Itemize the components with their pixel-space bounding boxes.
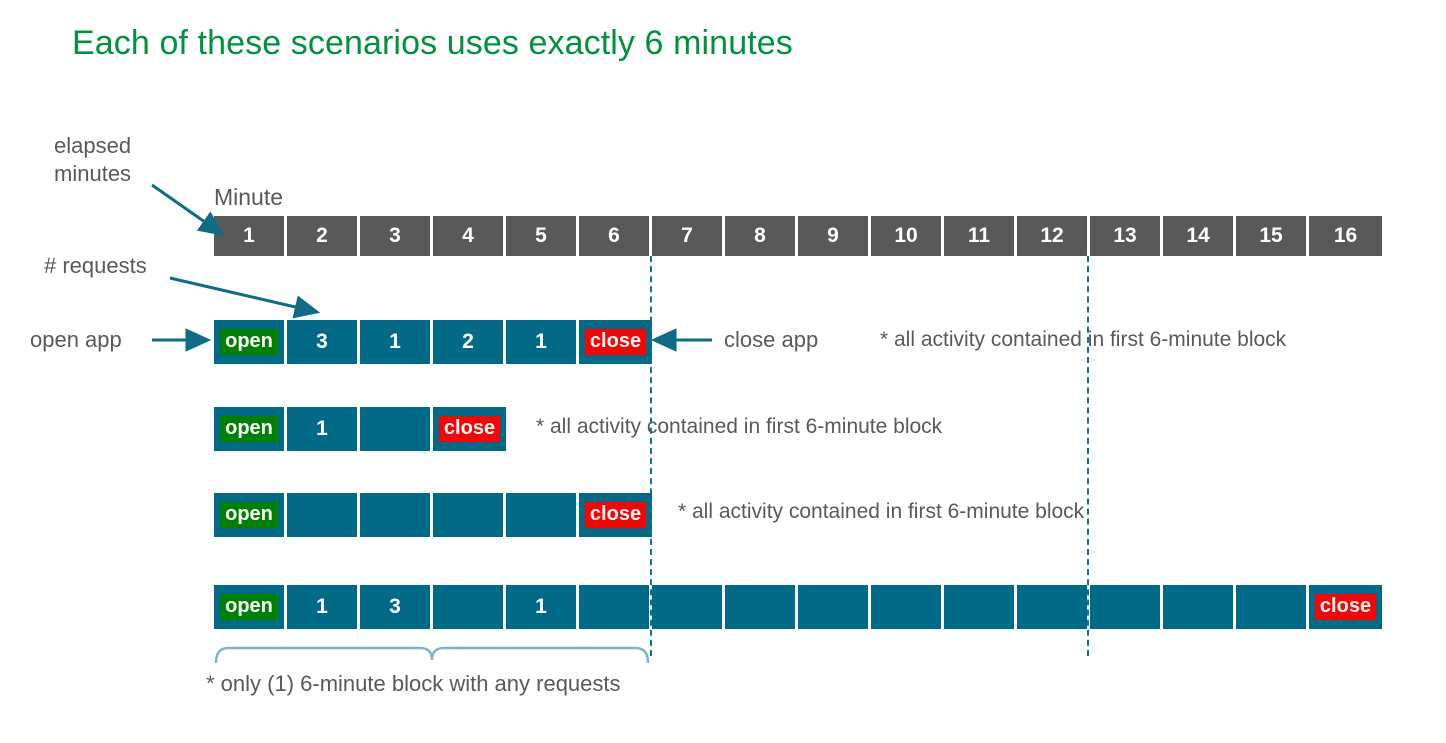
minute-header-row: 12345678910111213141516 — [214, 216, 1382, 256]
scenario-4-minute-15-cell — [1236, 585, 1309, 629]
scenario-row-2: open1close — [214, 407, 506, 451]
minute-caption: Minute — [214, 184, 283, 211]
scenario-row-3: openclose — [214, 493, 652, 537]
scenario-4-minute-11-cell — [944, 585, 1017, 629]
annotation-elapsed-minutes: elapsed minutes — [54, 132, 131, 187]
minute-header-cell-3: 3 — [360, 216, 433, 256]
scenario-4-minute-14-cell — [1163, 585, 1236, 629]
scenario-1-minute-3-cell: 1 — [360, 320, 433, 364]
scenario-4-minute-9-cell — [798, 585, 871, 629]
scenario-4-minute-1-cell: open — [214, 585, 287, 629]
minute-header-cell-7: 7 — [652, 216, 725, 256]
annotation-close-app: close app — [724, 326, 818, 354]
scenario-4-minute-7-cell — [652, 585, 725, 629]
scenario-1-note: * all activity contained in first 6-minu… — [880, 327, 1286, 353]
scenario-1-minute-5-cell: 1 — [506, 320, 579, 364]
scenario-3-minute-2-cell — [287, 493, 360, 537]
scenario-3-minute-5-cell — [506, 493, 579, 537]
annotation-num-requests: # requests — [44, 252, 147, 280]
scenario-1-minute-6-cell: close — [579, 320, 652, 364]
scenario-4-minute-5-cell: 1 — [506, 585, 579, 629]
scenario-row-4: open131close — [214, 585, 1382, 629]
open-chip: open — [220, 594, 278, 621]
scenario-4-minute-4-cell — [433, 585, 506, 629]
scenario-4-minute-6-cell — [579, 585, 652, 629]
minute-header-cell-16: 16 — [1309, 216, 1382, 256]
scenario-3-note: * all activity contained in first 6-minu… — [678, 499, 1084, 525]
close-chip: close — [439, 416, 500, 443]
minute-header-cell-8: 8 — [725, 216, 798, 256]
arrow-elapsed-minutes — [152, 185, 222, 234]
minute-header-cell-10: 10 — [871, 216, 944, 256]
minute-header-cell-13: 13 — [1090, 216, 1163, 256]
open-chip: open — [220, 329, 278, 356]
minute-header-cell-1: 1 — [214, 216, 287, 256]
arrow-num-requests — [170, 278, 317, 312]
scenario-1-minute-1-cell: open — [214, 320, 287, 364]
block-divider-minute-6 — [650, 256, 652, 656]
bracket-note: * only (1) 6-minute block with any reque… — [206, 670, 621, 698]
slide-canvas: Each of these scenarios uses exactly 6 m… — [0, 0, 1446, 743]
scenario-2-minute-4-cell: close — [433, 407, 506, 451]
minute-header-cell-6: 6 — [579, 216, 652, 256]
minute-header-cell-14: 14 — [1163, 216, 1236, 256]
scenario-2-minute-2-cell: 1 — [287, 407, 360, 451]
scenario-1-minute-4-cell: 2 — [433, 320, 506, 364]
minute-header-cell-9: 9 — [798, 216, 871, 256]
scenario-4-minute-16-cell: close — [1309, 585, 1382, 629]
scenario-row-1: open3121close — [214, 320, 652, 364]
annotation-elapsed-minutes-line2: minutes — [54, 160, 131, 188]
scenario-4-minute-10-cell — [871, 585, 944, 629]
close-chip: close — [585, 502, 646, 529]
scenario-4-minute-13-cell — [1090, 585, 1163, 629]
minute-header-cell-12: 12 — [1017, 216, 1090, 256]
scenario-3-minute-1-cell: open — [214, 493, 287, 537]
minute-header-cell-2: 2 — [287, 216, 360, 256]
bracket-first-block — [216, 648, 648, 663]
page-title: Each of these scenarios uses exactly 6 m… — [72, 24, 793, 63]
annotation-elapsed-minutes-line1: elapsed — [54, 132, 131, 160]
scenario-2-minute-1-cell: open — [214, 407, 287, 451]
scenario-4-minute-3-cell: 3 — [360, 585, 433, 629]
scenario-1-minute-2-cell: 3 — [287, 320, 360, 364]
close-chip: close — [585, 329, 646, 356]
annotation-open-app: open app — [30, 326, 122, 354]
minute-header-cell-5: 5 — [506, 216, 579, 256]
minute-header-cell-11: 11 — [944, 216, 1017, 256]
scenario-4-minute-12-cell — [1017, 585, 1090, 629]
scenario-3-minute-4-cell — [433, 493, 506, 537]
block-divider-minute-12 — [1087, 256, 1089, 656]
scenario-3-minute-3-cell — [360, 493, 433, 537]
open-chip: open — [220, 416, 278, 443]
scenario-3-minute-6-cell: close — [579, 493, 652, 537]
minute-header-cell-4: 4 — [433, 216, 506, 256]
scenario-4-minute-2-cell: 1 — [287, 585, 360, 629]
minute-header-cell-15: 15 — [1236, 216, 1309, 256]
close-chip: close — [1315, 594, 1376, 621]
scenario-4-minute-8-cell — [725, 585, 798, 629]
annotation-overlay — [0, 0, 1446, 743]
scenario-2-minute-3-cell — [360, 407, 433, 451]
scenario-2-note: * all activity contained in first 6-minu… — [536, 414, 942, 440]
open-chip: open — [220, 502, 278, 529]
